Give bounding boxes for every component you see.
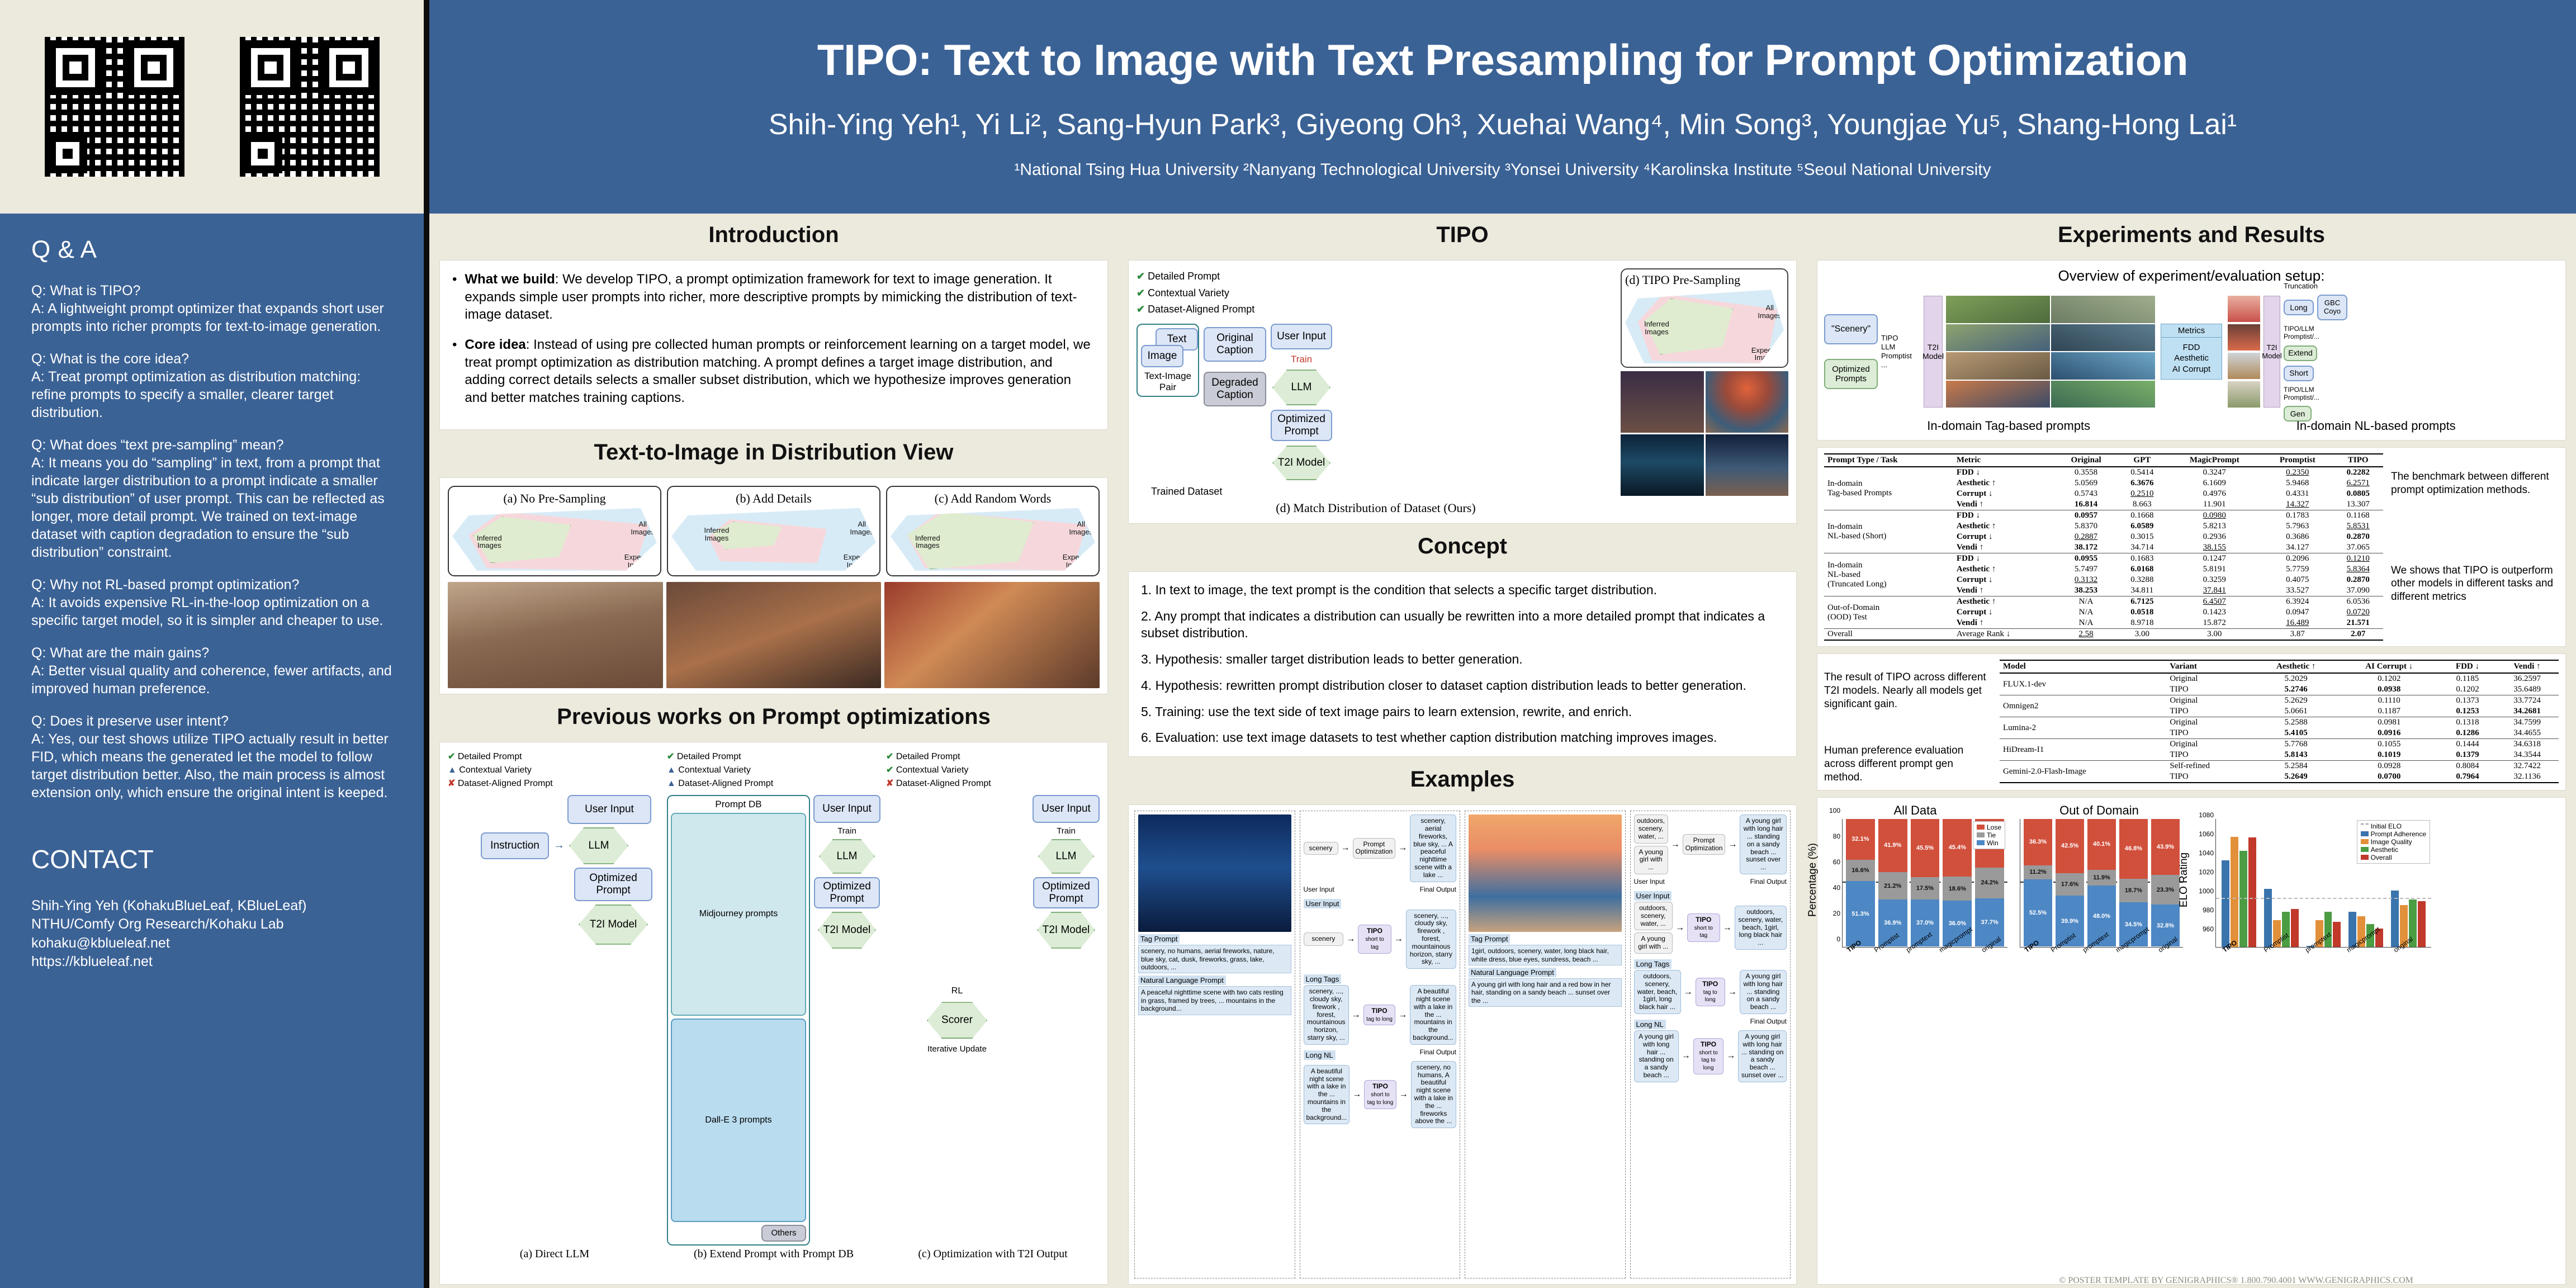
table1-cell: 2.07 — [2333, 629, 2384, 641]
qa-answer: A: Better visual quality and coherence, … — [31, 662, 395, 698]
check-row: ▲ Dataset-Aligned Prompt — [667, 777, 880, 790]
tipo-box: TIPO short to tag — [1358, 925, 1391, 953]
qr-code-project[interactable] — [240, 37, 380, 177]
table2-cell: 0.1185 — [2440, 673, 2495, 684]
table1-metric: Aesthetic ↑ — [1953, 478, 2055, 489]
qa-answer: A: It means you do “sampling” in text, f… — [31, 454, 395, 561]
table2-variant: Original — [2166, 695, 2253, 707]
node-degraded-caption: Degraded Caption — [1204, 372, 1266, 406]
node-llm: LLM — [819, 839, 875, 874]
stacked-bar: 41.9%21.2%36.9% — [1878, 819, 1907, 947]
previous-works-card: ✔ Detailed Prompt ▲ Contextual Variety ✘… — [439, 742, 1108, 1285]
cross-icon: ✘ — [448, 779, 455, 788]
table1-cell: 6.7125 — [2117, 596, 2167, 608]
poster-footer: © POSTER TEMPLATE BY GENIGRAPHICS® 1.800… — [1901, 1276, 2572, 1286]
final-output-label: Final Output — [1420, 885, 1456, 893]
arrow-icon: → — [1682, 1051, 1690, 1061]
table1-cell: 5.9468 — [2262, 478, 2333, 489]
triangle-icon: ▲ — [448, 765, 457, 775]
table1-header: Metric — [1953, 454, 2055, 467]
node-image: Image — [1141, 345, 1183, 367]
arrow-icon: → — [1346, 934, 1355, 944]
table1-cell: 5.8531 — [2333, 521, 2384, 532]
overview-caption-right: In-domain NL-based prompts — [2296, 419, 2456, 433]
y-tick: 1060 — [2199, 830, 2216, 838]
table-row: OverallAverage Rank ↓2.583.003.003.872.0… — [1824, 629, 2383, 641]
table1-cell: 5.8364 — [2333, 564, 2384, 575]
table2-cell: 5.4105 — [2253, 728, 2339, 739]
node-t2i-model-right: T2I Model — [2264, 296, 2280, 408]
label-tipo-llm-2: TIPO/LLM Promptist/... — [2284, 386, 2559, 402]
table2-cell: 0.1187 — [2339, 706, 2440, 717]
stacked-bar: 42.5%17.6%39.9% — [2056, 819, 2084, 947]
table2-cell: 32.1136 — [2495, 771, 2559, 783]
table1-header: GPT — [2117, 454, 2167, 467]
table1-metric: Vendi ↑ — [1953, 585, 2055, 596]
pipeline-label: TIPO LLM Promptist ... — [1881, 334, 1920, 370]
prev-panel-c: ✔ Detailed Prompt ✔ Contextual Variety ✘… — [886, 750, 1100, 1261]
table1-cell: 0.2936 — [2167, 532, 2262, 542]
y-tick: 1040 — [2199, 849, 2216, 857]
tipo-sublabel: tag to long — [1366, 1016, 1393, 1022]
legend-item: Lose — [1977, 823, 2001, 831]
table1-metric: FDD ↓ — [1953, 467, 2055, 478]
table1-task: In-domain NL-based (Truncated Long) — [1824, 553, 1953, 596]
poster-body: Introduction • What we build: We develop… — [429, 214, 2576, 1288]
label-all-images: AllImages — [1758, 304, 1782, 319]
arrow-icon: → — [1352, 1090, 1361, 1100]
prompt-optimization-box: Prompt Optimization — [1353, 838, 1396, 859]
qa-answer: A: A lightweight prompt optimizer that e… — [31, 300, 395, 335]
tag-prompt-text: 1girl, outdoors, scenery, water, long bl… — [1469, 945, 1622, 965]
tipo-box: TIPO tag to long — [1363, 1005, 1396, 1026]
node-llm: LLM — [1272, 370, 1330, 405]
example-image — [1706, 434, 1789, 496]
long-nl-label: Long NL — [1304, 1050, 1336, 1060]
db-item-dalle3: Dall-E 3 prompts — [671, 1019, 806, 1222]
gen-image — [2051, 296, 2155, 323]
node-t2i-model: T2I Model — [1272, 446, 1330, 480]
output-box: A young girl with long hair ... standing… — [1740, 970, 1787, 1014]
node-t2i-model: T2I Model — [579, 905, 648, 945]
gen-image — [2228, 353, 2260, 379]
table1-cell: 34.127 — [2262, 542, 2333, 553]
panel-caption: (a) No Pre-Sampling — [452, 491, 657, 506]
example-flow-row: scenery, ..., cloudy sky, firework , for… — [1304, 985, 1457, 1045]
table1-cell: N/A — [2055, 618, 2117, 629]
output-box: scenery, ..., cloudy sky, firework , for… — [1406, 910, 1456, 969]
presampling-box: (d) TIPO Pre-Sampling AllImages Inferred… — [1621, 268, 1788, 368]
table2-cell: 0.0928 — [2339, 761, 2440, 772]
label-expected-images: ExpectedImages — [624, 553, 655, 569]
edge-label-iterative-update: Iterative Update — [927, 1044, 987, 1054]
table-row: In-domain NL-based (Short)FDD ↓0.09570.1… — [1824, 510, 2383, 522]
legend-item: Initial ELO — [2361, 822, 2426, 830]
concept-item: 2. Any prompt that indicates a distribut… — [1141, 608, 1784, 642]
table1-cell: 0.3015 — [2117, 532, 2167, 542]
table1-cell: 37.065 — [2333, 542, 2384, 553]
table1-metric: Corrupt ↓ — [1953, 532, 2055, 542]
table1-task: In-domain NL-based (Short) — [1824, 510, 1953, 553]
check-row: ✔ Detailed Prompt — [448, 750, 661, 764]
node-t2i-model: T2I Model — [818, 912, 876, 949]
legend-item: Tie — [1977, 831, 2001, 839]
table1-cell: 0.3259 — [2167, 575, 2262, 585]
check-icon: ✔ — [886, 752, 893, 761]
chart-legend: Initial ELOPrompt AdherenceImage Quality… — [2357, 820, 2430, 864]
user-input-label: User Input — [1304, 885, 1334, 893]
section-title-previous-works: Previous works on Prompt optimizations — [439, 701, 1108, 735]
arrow-icon: → — [1723, 923, 1732, 933]
table2-variant: Original — [2166, 673, 2253, 684]
table1-cell: 14.327 — [2262, 499, 2333, 510]
column-right: Experiments and Results Overview of expe… — [1807, 214, 2576, 1288]
node-gbc-coyo: GBC Coyo — [2317, 295, 2347, 320]
table-row: In-domain NL-based (Truncated Long)FDD ↓… — [1824, 553, 2383, 565]
table2-model: FLUX.1-dev — [2000, 673, 2166, 695]
results-table-2: ModelVariantAesthetic ↑AI Corrupt ↓FDD ↓… — [2000, 660, 2559, 783]
contact-heading: CONTACT — [31, 844, 395, 874]
prompt-db-box: Prompt DB Midjourney prompts Dall-E 3 pr… — [667, 795, 810, 1246]
table1-cell: 0.2870 — [2333, 532, 2384, 542]
node-original-caption: Original Caption — [1204, 327, 1266, 362]
presampling-caption: (d) TIPO Pre-Sampling — [1625, 273, 1784, 287]
tipo-check-row: ✔ Detailed Prompt — [1137, 268, 1615, 285]
segment-lose: 45.4% — [1943, 819, 1972, 877]
segment-tie: 16.6% — [1846, 860, 1875, 881]
final-output-box: A young girl with long hair ... standing… — [1740, 815, 1787, 874]
legend-swatch — [1977, 840, 1985, 845]
chart-plot: 02040608010032.1%16.6%51.3%41.9%21.2%36.… — [1842, 819, 2007, 948]
qa-question: Q: Does it preserve user intent? — [31, 712, 395, 730]
segment-tie: 24.2% — [1975, 868, 2004, 898]
sample-image — [666, 582, 882, 688]
distribution-panel-c: (c) Add Random Words AllImages InferredI… — [886, 486, 1100, 576]
table2-header: AI Corrupt ↓ — [2339, 660, 2440, 673]
table1-cell: 13.307 — [2333, 499, 2384, 510]
panel-caption: (c) Add Random Words — [891, 491, 1095, 506]
arrow-icon: → — [553, 839, 565, 852]
check-label: Detailed Prompt — [458, 752, 522, 761]
section-title-distribution-view: Text-to-Image in Distribution View — [439, 437, 1108, 471]
check-icon: ✔ — [667, 752, 674, 761]
table2-cell: 34.2681 — [2495, 706, 2559, 717]
table2-cell: 0.1019 — [2339, 750, 2440, 761]
legend-swatch — [2361, 855, 2369, 860]
legend-item: Prompt Adherence — [2361, 830, 2426, 838]
chart-y-label: ELO Rating — [2178, 852, 2190, 907]
table1-cell: 5.7759 — [2262, 564, 2333, 575]
qa-answer: A: Yes, our test shows utilize TIPO actu… — [31, 730, 395, 802]
qa-question: Q: What is TIPO? — [31, 282, 395, 300]
table1-cell: 5.0569 — [2055, 478, 2117, 489]
bar-image-quality — [2231, 837, 2238, 947]
table1-cell: 6.0168 — [2117, 564, 2167, 575]
table2-cell: 33.7724 — [2495, 695, 2559, 707]
table2-cell: 32.7422 — [2495, 761, 2559, 772]
label-inferred-images: InferredImages — [1644, 320, 1669, 335]
output-box: scenery, no humans, A beautiful night sc… — [1411, 1061, 1456, 1128]
table2-variant: Original — [2166, 717, 2253, 728]
table1-cell: 5.7963 — [2262, 521, 2333, 532]
table1-cell: 5.8213 — [2167, 521, 2262, 532]
panel-caption-b: (b) Extend Prompt with Prompt DB — [667, 1248, 880, 1261]
example-flow-row: A beautiful night scene with a lake in t… — [1304, 1061, 1457, 1128]
nl-prompt-text: A peaceful nighttime scene with two cats… — [1138, 986, 1291, 1015]
check-label: Contextual Variety — [459, 765, 532, 775]
node-user-input: User Input — [813, 795, 880, 823]
table1-header: Prompt Type / Task — [1824, 454, 1953, 467]
example-column-2: scenery → Prompt Optimization → scenery,… — [1300, 811, 1461, 1278]
arrow-icon: → — [1398, 1010, 1407, 1020]
table2-model: Omnigen2 — [2000, 695, 2166, 717]
tag-prompt-label: Tag Prompt — [1469, 934, 1510, 944]
table2-header: FDD ↓ — [2440, 660, 2495, 673]
gen-image — [2228, 381, 2260, 408]
table1-cell: 0.1683 — [2117, 553, 2167, 565]
tipo-sublabel: short to tag to long — [1699, 1050, 1717, 1072]
node-extend: Extend — [2284, 345, 2317, 361]
qr-code-paper[interactable] — [45, 37, 184, 177]
table1-cell: 0.1168 — [2333, 510, 2384, 522]
edge-label-trained-dataset: Trained Dataset — [1137, 486, 1615, 498]
arrow-icon: → — [1671, 840, 1680, 850]
chart-elo-rating: ELO Rating96098010001020104010601080Init… — [2191, 803, 2431, 977]
node-short: Short — [2284, 366, 2314, 381]
example-column-4: outdoors, scenery, water, ... A young gi… — [1630, 811, 1791, 1278]
chart-legend: LoseTieWin — [1973, 821, 2005, 849]
tag-prompt-text: scenery, no humans, aerial fireworks, na… — [1138, 945, 1291, 973]
long-nl-label: Long NL — [1634, 1020, 1666, 1029]
gen-image — [2051, 324, 2155, 352]
example-column-3: Tag Prompt 1girl, outdoors, scenery, wat… — [1465, 811, 1626, 1278]
table1-cell: 0.4075 — [2262, 575, 2333, 585]
table2-model: Gemini-2.0-Flash-Image — [2000, 761, 2166, 783]
segment-tie: 18.6% — [1943, 877, 1972, 901]
results-table-1-card: Prompt Type / TaskMetricOriginalGPTMagic… — [1817, 447, 2566, 647]
check-icon: ✔ — [1137, 287, 1145, 299]
table2-variant: TIPO — [2166, 684, 2253, 695]
table2-cell: 0.1110 — [2339, 695, 2440, 707]
label-tipo-llm-1: TIPO/LLM Promptist/... — [2284, 325, 2559, 341]
results-table-1: Prompt Type / TaskMetricOriginalGPTMagic… — [1824, 453, 2383, 641]
table2-cell: 34.7599 — [2495, 717, 2559, 728]
label-all-images: AllImages — [1069, 520, 1093, 536]
chart-out-of-domain: Out of Domain36.3%11.2%52.5%42.5%17.6%39… — [2015, 803, 2183, 977]
table2-model: HiDream-I1 — [2000, 739, 2166, 761]
legend-item: Image Quality — [2361, 838, 2426, 846]
arrow-icon: → — [1728, 987, 1737, 997]
check-label: Detailed Prompt — [1148, 271, 1220, 282]
table1-cell: 0.3247 — [2167, 467, 2262, 478]
db-item-others: Others — [761, 1225, 806, 1242]
example-column-1: Tag Prompt scenery, no humans, aerial fi… — [1134, 811, 1295, 1278]
user-input-box-nl: A young girl with ... — [1634, 846, 1668, 874]
label-all-images: AllImages — [631, 520, 655, 536]
user-input-label: User Input — [1634, 878, 1665, 885]
table1-metric: Aesthetic ↑ — [1953, 564, 2055, 575]
table1-cell: 0.3686 — [2262, 532, 2333, 542]
cross-icon: ✘ — [886, 779, 893, 788]
legend-item: Win — [1977, 839, 2001, 847]
node-optimized-prompt: Optimized Prompt — [574, 868, 652, 901]
qa-item: Q: What is TIPO? A: A lightweight prompt… — [31, 282, 395, 335]
qa-panel: Q & A Q: What is TIPO? A: A lightweight … — [0, 214, 424, 1288]
table2-cell: 5.2588 — [2253, 717, 2339, 728]
node-t2i-model: T2I Model — [1037, 912, 1095, 949]
table2-cell: 0.1202 — [2440, 684, 2495, 695]
bar-group — [2264, 819, 2299, 947]
node-user-input: User Input — [1271, 324, 1332, 349]
input-box: scenery, ..., cloudy sky, firework , for… — [1304, 985, 1349, 1045]
stacked-bar: 32.1%16.6%51.3% — [1846, 819, 1875, 947]
chart-title: All Data — [1823, 803, 2007, 818]
tipo-box: TIPO short to tag — [1687, 913, 1720, 942]
contact-email[interactable]: kohaku@kblueleaf.net — [31, 934, 395, 953]
table-row: FLUX.1-devOriginal5.20290.12020.118536.2… — [2000, 673, 2559, 684]
long-tags-label: Long Tags — [1634, 959, 1672, 969]
table1-metric: FDD ↓ — [1953, 510, 2055, 522]
tipo-sublabel: short to tag — [1365, 936, 1384, 950]
table-row: Omnigen2Original5.26290.11100.137333.772… — [2000, 695, 2559, 707]
input-box: outdoors, scenery, water, beach, 1girl, … — [1634, 970, 1681, 1014]
table2-note-2: Human preference evaluation across diffe… — [1824, 711, 1992, 784]
table2-cell: 0.0916 — [2339, 728, 2440, 739]
table1-cell: 37.090 — [2333, 585, 2384, 596]
label-truncation: Truncation — [2284, 282, 2559, 290]
table1-cell: 0.1423 — [2167, 607, 2262, 618]
nl-prompt-text: A young girl with long hair and a red bo… — [1469, 978, 1622, 1007]
legend-item: Overall — [2361, 854, 2426, 861]
table2-variant: TIPO — [2166, 706, 2253, 717]
metrics-header: Metrics — [2161, 324, 2222, 338]
x-tick-row: TIPOPromptistpromptextmagicpromptorigina… — [2215, 948, 2431, 977]
column-middle: TIPO ✔ Detailed Prompt ✔ Contextual Vari… — [1118, 214, 1807, 1288]
table2-cell: 0.0981 — [2339, 717, 2440, 728]
intro-bullet-lead: What we build — [465, 272, 555, 287]
arrow-icon: → — [1399, 1090, 1408, 1100]
table2-header: Model — [2000, 660, 2166, 673]
venn-diagram-a: AllImages InferredImages ExpectedImages — [452, 508, 657, 571]
example-flow-row: outdoors, scenery, water, beach, 1girl, … — [1634, 970, 1787, 1014]
table2-cell: 0.1444 — [2440, 739, 2495, 750]
tipo-sublabel: tag to long — [1703, 989, 1717, 1003]
gen-image — [2228, 324, 2260, 351]
check-row: ✔ Contextual Variety — [886, 764, 1100, 777]
node-scenery: "Scenery" — [1824, 314, 1878, 344]
table2-cell: 0.0700 — [2339, 771, 2440, 783]
example-flow-row: scenery → Prompt Optimization → scenery,… — [1304, 815, 1457, 882]
check-label: Dataset-Aligned Prompt — [458, 779, 553, 788]
y-tick: 0 — [1836, 935, 1843, 943]
check-icon: ✔ — [1137, 271, 1145, 282]
qa-answer: A: Treat prompt optimization as distribu… — [31, 368, 395, 422]
check-icon: ✔ — [886, 765, 893, 775]
table2-cell: 5.2629 — [2253, 695, 2339, 707]
concept-item: 3. Hypothesis: smaller target distributi… — [1141, 651, 1784, 668]
distribution-panel-a: (a) No Pre-Sampling AllImages InferredIm… — [448, 486, 661, 576]
user-input-box-tags: outdoors, scenery, water, ... — [1634, 815, 1668, 843]
table1-cell: 0.1783 — [2262, 510, 2333, 522]
tipo-label: TIPO — [1696, 916, 1711, 924]
legend-swatch-dashed — [2361, 823, 2369, 828]
table2-header: Aesthetic ↑ — [2253, 660, 2339, 673]
table1-cell: 6.3924 — [2262, 596, 2333, 608]
arrow-icon: → — [1684, 987, 1693, 997]
bar-group — [2222, 819, 2256, 947]
venn-diagram-c: AllImages InferredImages ExpectedImages — [891, 508, 1095, 571]
edge-label-rl: RL — [951, 986, 963, 996]
table1-cell: 0.2887 — [2055, 532, 2117, 542]
table1-cell: 0.0720 — [2333, 607, 2384, 618]
y-tick: 980 — [2203, 906, 2216, 914]
output-box: outdoors, scenery, water, beach, 1girl, … — [1735, 906, 1787, 950]
qa-question: Q: What is the core idea? — [31, 350, 395, 368]
affiliation-list: ¹National Tsing Hua University ²Nanyang … — [1014, 160, 1991, 179]
stacked-bar: 40.1%11.9%48.0% — [2087, 819, 2116, 947]
examples-card: Tag Prompt scenery, no humans, aerial fi… — [1128, 804, 1797, 1285]
check-row: ✔ Detailed Prompt — [667, 750, 880, 764]
table1-cell: 33.527 — [2262, 585, 2333, 596]
table1-cell: 0.2510 — [2117, 489, 2167, 499]
initial-elo-line — [2216, 898, 2431, 899]
table1-header: Promptist — [2262, 454, 2333, 467]
edge-label-train: Train — [1057, 826, 1076, 836]
input-box: scenery — [1304, 932, 1344, 946]
gen-image — [2051, 381, 2155, 408]
table1-task: Out-of-Domain (OOD) Test — [1824, 596, 1953, 629]
node-instruction: Instruction — [481, 832, 549, 859]
concept-item: 4. Hypothesis: rewritten prompt distribu… — [1141, 678, 1784, 694]
table1-cell: 0.3132 — [2055, 575, 2117, 585]
y-tick: 20 — [1833, 910, 1843, 917]
table1-cell: 2.58 — [2055, 629, 2117, 641]
label-expected-images: ExpectedImages — [844, 553, 874, 569]
stacked-bars: 36.3%11.2%52.5%42.5%17.6%39.9%40.1%11.9%… — [2020, 819, 2183, 947]
left-sidebar: Q & A Q: What is TIPO? A: A lightweight … — [0, 0, 429, 1288]
table1-cell: 6.1609 — [2167, 478, 2262, 489]
concept-card: 1. In text to image, the text prompt is … — [1128, 571, 1797, 757]
table1-metric: Corrupt ↓ — [1953, 575, 2055, 585]
legend-swatch — [2361, 847, 2369, 852]
chart-all-data: All DataPercentage (%)02040608010032.1%1… — [1823, 803, 2007, 977]
gen-image — [2051, 352, 2155, 380]
legend-swatch — [1977, 825, 1985, 830]
table1-metric: Corrupt ↓ — [1953, 489, 2055, 499]
section-title-tipo: TIPO — [1128, 219, 1797, 253]
table1-cell: 15.872 — [2167, 618, 2262, 629]
segment-tie: 21.2% — [1878, 872, 1907, 899]
db-item-midjourney: Midjourney prompts — [671, 813, 806, 1016]
table1-cell: 5.7497 — [2055, 564, 2117, 575]
sample-image-strip — [448, 582, 1100, 688]
distribution-panels: (a) No Pre-Sampling AllImages InferredIm… — [448, 486, 1100, 576]
qa-item: Q: What are the main gains? A: Better vi… — [31, 644, 395, 698]
gen-image — [1946, 296, 2050, 323]
table1-cell: 0.2096 — [2262, 553, 2333, 565]
table1-cell: 0.3288 — [2117, 575, 2167, 585]
table1-metric: Aesthetic ↑ — [1953, 596, 2055, 608]
table1-note-1: The benchmark between different prompt o… — [2391, 453, 2559, 497]
table2-cell: 36.2597 — [2495, 673, 2559, 684]
table1-cell: 0.0947 — [2262, 607, 2333, 618]
legend-swatch — [1977, 832, 1985, 837]
node-user-input: User Input — [1033, 795, 1100, 823]
table-row: In-domain Tag-based PromptsFDD ↓0.35580.… — [1824, 467, 2383, 478]
stacked-bar: 36.3%11.2%52.5% — [2024, 819, 2052, 947]
contact-website[interactable]: https://kblueleaf.net — [31, 953, 395, 971]
final-output-label: Final Output — [1420, 1048, 1456, 1061]
